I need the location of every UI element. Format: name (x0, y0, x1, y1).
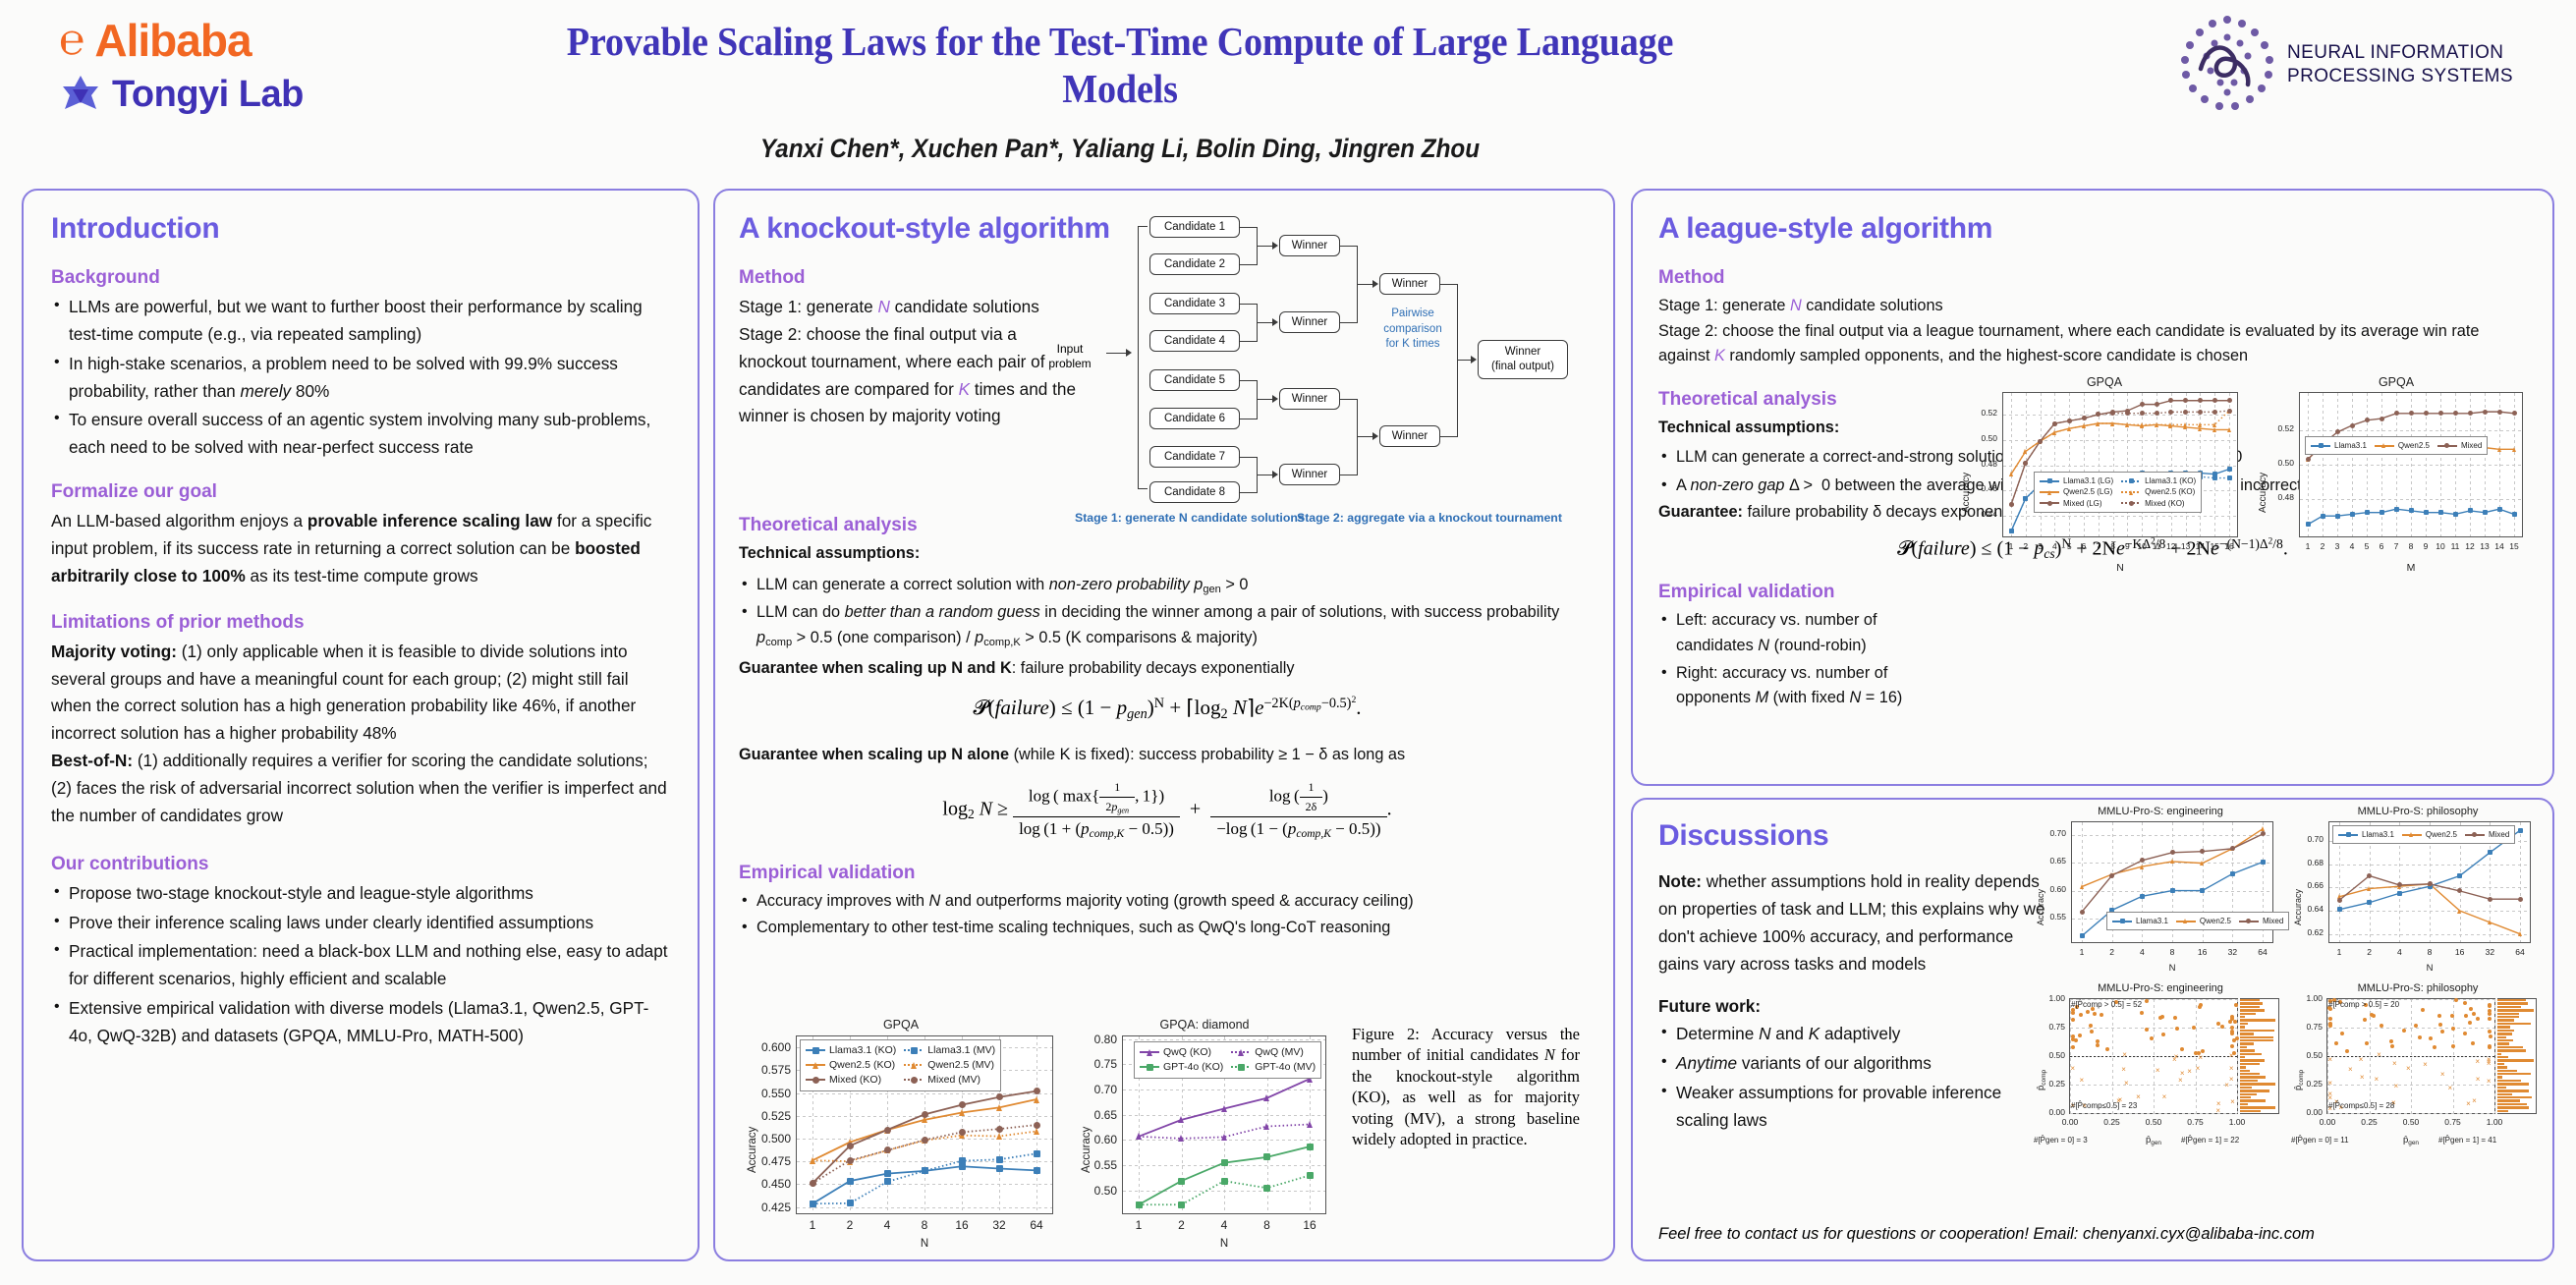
x-tick-label: 1 (810, 1218, 816, 1232)
legend-label: Llama3.1 (LG) (2063, 475, 2113, 486)
data-point (2125, 422, 2129, 427)
scatter-point: × (2423, 1061, 2428, 1069)
data-point (2350, 512, 2355, 517)
x-tick-label: 8 (2170, 947, 2175, 957)
data-point (911, 1062, 917, 1069)
goal-text: An LLM-based algorithm enjoys a provable… (51, 508, 670, 590)
y-tick-label: 0.55 (2049, 912, 2066, 922)
y-tick-label: 0.50 (1981, 433, 1997, 443)
scatter-point (2476, 1017, 2480, 1021)
list-item: Weaker assumptions for provable inferenc… (1658, 1080, 2051, 1135)
data-point (2365, 418, 2370, 422)
scatter-point: × (2162, 1093, 2167, 1101)
chart-legend: Llama3.1 (KO)Llama3.1 (MV)Qwen2.5 (KO)Qw… (800, 1039, 1001, 1091)
data-point (2227, 398, 2232, 403)
scatter-point (2160, 1015, 2164, 1019)
histogram-bar (2497, 1036, 2506, 1038)
data-point (2453, 411, 2458, 416)
data-point (847, 1143, 854, 1149)
data-point (2367, 900, 2372, 905)
y-tick-label: 0.475 (761, 1154, 791, 1168)
x-tick-label: 64 (2258, 947, 2267, 957)
y-tick-label: 0.25 (2048, 1079, 2065, 1089)
legend-item: Mixed (2437, 440, 2482, 451)
chart-legend: Llama3.1Qwen2.5Mixed (2332, 825, 2515, 844)
histogram-bar (2240, 1066, 2246, 1068)
data-point (2261, 860, 2266, 865)
data-point (1147, 1064, 1153, 1071)
gridline (2237, 999, 2238, 1113)
legend-item: Mixed (2239, 916, 2283, 926)
alibaba-logo: ℮ Alibaba (59, 14, 304, 67)
scatter-point (2414, 1024, 2418, 1028)
scatter-point (2145, 1028, 2149, 1032)
histogram-bar (2497, 1059, 2534, 1061)
histogram-bar (2497, 1016, 2519, 1018)
assumptions-heading: Technical assumptions: (739, 541, 1596, 567)
data-point (2468, 411, 2473, 416)
legend-label: GPT-4o (KO) (1163, 1060, 1223, 1075)
scatter-point (2096, 1039, 2100, 1043)
data-point (2365, 510, 2370, 515)
legend-item: Mixed (KO) (2121, 498, 2196, 509)
data-point (1263, 1153, 1270, 1160)
histogram-bar (2240, 1036, 2273, 1038)
histogram-bar (2240, 1073, 2260, 1075)
neurips-wordmark: NEURAL INFORMATION PROCESSING SYSTEMS (2287, 41, 2513, 89)
data-point (2409, 508, 2414, 513)
data-point (2110, 421, 2114, 426)
legend-label: Mixed (2263, 916, 2283, 926)
histogram-bar (2240, 1096, 2251, 1098)
data-point (2518, 897, 2523, 902)
x-tick-label: 0.00 (2320, 1117, 2336, 1127)
x-tick-label: 16 (955, 1218, 968, 1232)
guarantee-nk: Guarantee when scaling up N and K: failu… (739, 656, 1596, 682)
data-point (2052, 421, 2057, 426)
chart-title: MMLU-Pro-S: philosophy (2291, 806, 2545, 817)
gridline (2070, 1028, 2237, 1029)
chart-title: MMLU-Pro-S: engineering (2034, 982, 2287, 994)
candidate-box: Candidate 7 (1149, 446, 1240, 468)
x-tick-label: 32 (992, 1218, 1005, 1232)
x-tick-label: 16 (2455, 947, 2464, 957)
data-point (2082, 423, 2086, 428)
y-tick-label: 0.48 (1981, 459, 1997, 469)
data-point (1263, 1094, 1269, 1101)
candidate-box: Candidate 4 (1149, 330, 1240, 352)
data-point (2497, 410, 2502, 415)
chart-xlabel: N (2328, 963, 2531, 974)
threshold-line (2327, 1056, 2494, 1057)
data-point (1221, 1134, 1227, 1141)
data-point (2424, 510, 2429, 515)
data-point (1034, 1150, 1040, 1157)
scatter-point: × (2215, 1107, 2220, 1115)
threshold-line (2070, 1056, 2237, 1057)
chart-ylabel: Accuracy (1961, 473, 1972, 513)
data-point (1307, 1172, 1314, 1179)
x-tick-label: 2 (847, 1218, 854, 1232)
scatter-point (2489, 1034, 2492, 1038)
histogram-bar (2240, 1076, 2266, 1078)
data-point (2170, 888, 2175, 893)
scatter-point: × (2178, 1077, 2183, 1085)
data-point (2155, 402, 2159, 407)
chart-title: GPQA (2254, 375, 2539, 389)
legend-item: Qwen2.5 (2402, 829, 2457, 840)
x-tick-label: 1.00 (2487, 1117, 2503, 1127)
histogram-bar (2240, 1063, 2260, 1065)
scatter-point: × (2327, 1056, 2332, 1064)
data-point (884, 1178, 891, 1185)
x-tick-label: 7 (2096, 541, 2100, 551)
x-tick-label: 2 (2109, 947, 2114, 957)
gridline (2327, 1085, 2494, 1086)
data-point (2457, 873, 2462, 878)
scatter-point (2096, 1043, 2100, 1047)
scatter-point: × (2229, 1076, 2234, 1084)
histogram-bar (2497, 1110, 2508, 1112)
data-point (2409, 411, 2414, 416)
histogram-bar (2497, 1096, 2532, 1098)
histogram-bar (2497, 1009, 2534, 1011)
x-tick-label: 13 (2480, 541, 2489, 551)
scatter-point (2161, 1033, 2165, 1036)
knockout-theory-heading: Theoretical analysis (739, 515, 1596, 536)
chart-legend: Llama3.1 (LG)Llama3.1 (KO)Qwen2.5 (LG)Qw… (2034, 472, 2202, 513)
introduction-title: Introduction (51, 212, 670, 246)
legend-item: Llama3.1 (2112, 916, 2168, 926)
data-point (1263, 1123, 1269, 1130)
majority-voting-text: Majority voting: (1) only applicable whe… (51, 639, 670, 748)
knockout-assumptions: LLM can generate a correct solution with… (739, 573, 1596, 652)
data-point (2518, 828, 2523, 833)
scatter-point (2345, 1049, 2349, 1053)
histogram-bar (2240, 1009, 2265, 1011)
legend-label: Qwen2.5 (2426, 829, 2457, 840)
legend-item: Qwen2.5 (KO) (806, 1058, 896, 1073)
histogram-bar (2497, 1046, 2523, 1048)
winner-box: Winner (1279, 464, 1340, 485)
legend-label: Qwen2.5 (2398, 440, 2430, 451)
x-tick-label: 16 (2224, 541, 2233, 551)
legend-label: Llama3.1 (2334, 440, 2367, 451)
data-point (2155, 422, 2158, 427)
winner-box: Winner (1279, 311, 1340, 333)
x-tick-label: 12 (2166, 541, 2175, 551)
chart-gpqa-diamond: GPQA: diamond Accuracy 0.500.550.600.650… (1073, 1016, 1336, 1252)
x-tick-label: 4 (2397, 947, 2402, 957)
x-tick-label: 10 (2137, 541, 2146, 551)
legend-label: Mixed (2489, 829, 2509, 840)
data-point (2080, 933, 2085, 938)
y-tick-label: 0.50 (2277, 458, 2294, 468)
scatter-point (2078, 1034, 2082, 1037)
scatter-point (2402, 1029, 2406, 1033)
histogram-bar (2240, 1053, 2262, 1055)
data-point (2453, 512, 2458, 517)
y-tick-label: 0.50 (2048, 1050, 2065, 1060)
legend-item: Mixed (MV) (904, 1073, 995, 1088)
scatter-point (2451, 1027, 2455, 1031)
scatter-point: × (2174, 1053, 2179, 1061)
histogram-bar (2240, 1023, 2248, 1025)
scatter-point (2463, 1032, 2467, 1035)
scatter-point (2086, 1010, 2090, 1014)
chart-xlabel: N (796, 1238, 1053, 1250)
tongyi-wordmark: Tongyi Lab (112, 74, 304, 116)
scatter-point: × (2327, 1080, 2332, 1088)
histogram-bar (2497, 1002, 2528, 1004)
data-point (1136, 1133, 1142, 1140)
legend-label: Qwen2.5 (MV) (927, 1058, 994, 1073)
histogram-bar (2240, 1110, 2261, 1112)
gridline (2070, 1085, 2237, 1086)
histogram-bar (2240, 1093, 2257, 1095)
histogram-bar (2497, 1026, 2510, 1028)
scatter-point: × (2487, 1060, 2492, 1068)
scatter-point (2440, 1030, 2444, 1034)
scatter-point (2488, 1003, 2492, 1007)
x-tick-label: 2 (2367, 947, 2372, 957)
data-point (2483, 510, 2488, 515)
data-point (2212, 422, 2216, 427)
panel-knockout: A knockout-style algorithm Method Stage … (713, 189, 1615, 1261)
x-tick-label: 0.50 (2403, 1117, 2420, 1127)
scatter-point (2079, 1013, 2083, 1017)
data-point (2080, 910, 2085, 915)
x-tick-label: 13 (2181, 541, 2190, 551)
chart-ylabel: p̂comp (2293, 1070, 2305, 1090)
scatter-point: × (2124, 1080, 2129, 1088)
contributions-bullets: Propose two-stage knockout-style and lea… (51, 880, 670, 1050)
knockout-theory: Theoretical analysis Technical assumptio… (739, 515, 1596, 943)
best-of-n-text: Best-of-N: (1) additionally requires a v… (51, 748, 670, 830)
list-item: Prove their inference scaling laws under… (51, 910, 670, 937)
scatter-point: × (2187, 1068, 2192, 1076)
histogram-bar (2497, 1033, 2512, 1034)
x-tick-label: 16 (2198, 947, 2207, 957)
data-point (922, 1137, 928, 1144)
chart-title: GPQA (1957, 375, 2252, 389)
data-point (2047, 501, 2052, 506)
data-point (2381, 443, 2385, 448)
list-item: LLM can generate a correct solution with… (739, 573, 1596, 599)
data-point (1178, 1116, 1184, 1123)
legend-label: Mixed (MV) (927, 1073, 980, 1088)
x-tick-label: 9 (2424, 541, 2429, 551)
data-point (2321, 514, 2325, 519)
legend-item: Llama3.1 (2311, 440, 2367, 451)
gridline (2070, 1113, 2237, 1114)
x-tick-label: 9 (2125, 541, 2130, 551)
alibaba-mark-icon: ℮ (59, 19, 84, 62)
chart-xlabel: N (2071, 963, 2273, 974)
data-point (959, 1101, 966, 1108)
legend-item: Llama3.1 (MV) (904, 1043, 995, 1058)
data-point (810, 1201, 816, 1207)
histogram-bar (2497, 1099, 2520, 1101)
formula-knockout-2: log2 N ≥ log ( max{12pgen, 1}) log (1 + … (739, 780, 1596, 841)
panel-league: A league-style algorithm Method Stage 1:… (1631, 189, 2554, 786)
data-point (2394, 507, 2399, 512)
scatter-point (2173, 1016, 2177, 1020)
list-item: LLM can do better than a random guess in… (739, 600, 1596, 651)
tongyi-logo: Tongyi Lab (59, 73, 304, 116)
scatter-point: × (2180, 1070, 2185, 1078)
histogram-bar (2497, 1023, 2531, 1025)
final-winner-box: Winner (final output) (1478, 340, 1568, 379)
annotation-top: #[P̂comp > 0.5] = 20 (2328, 1000, 2399, 1009)
histogram-bar (2497, 1030, 2514, 1032)
data-point (2067, 426, 2071, 431)
histogram-bar (2240, 1099, 2266, 1101)
y-tick-label: 0.70 (1094, 1083, 1117, 1096)
chart-lines (2003, 393, 2237, 536)
data-point (2512, 512, 2517, 517)
x-tick-label: 4 (2052, 541, 2057, 551)
chart-xlabel: p̂gen (2069, 1135, 2238, 1146)
x-tick-label: 0.25 (2103, 1117, 2120, 1127)
candidate-box: Candidate 1 (1149, 216, 1240, 238)
list-item: Determine N and K adaptively (1658, 1021, 2051, 1048)
list-item: Propose two-stage knockout-style and lea… (51, 880, 670, 908)
y-tick-label: 0.52 (1981, 408, 1997, 418)
y-tick-label: 0.65 (2049, 856, 2066, 866)
histogram-bar (2240, 1013, 2256, 1015)
histogram-bar (2497, 1049, 2526, 1051)
scatter-point: × (2475, 1058, 2480, 1066)
data-point (884, 1127, 891, 1134)
list-item: Extensive empirical validation with dive… (51, 995, 670, 1050)
page-title: Provable Scaling Laws for the Test-Time … (517, 18, 1723, 112)
histogram-bar (2497, 1073, 2531, 1075)
gridline (2494, 999, 2495, 1113)
legend-item: Mixed (KO) (806, 1073, 896, 1088)
histogram-bar (2497, 1087, 2506, 1089)
chart-mmlu-philosophy: MMLU-Pro-S: philosophy Accuracy 0.620.64… (2291, 806, 2545, 978)
scatter-point (2451, 1044, 2455, 1048)
data-point (2140, 402, 2145, 407)
y-tick-label: 0.65 (1094, 1108, 1117, 1122)
y-tick-label: 0.62 (2307, 927, 2324, 937)
data-point (1221, 1178, 1228, 1185)
data-point (2227, 467, 2232, 472)
data-point (847, 1200, 854, 1206)
data-point (911, 1047, 918, 1054)
panel-discussions: Discussions Note: whether assumptions ho… (1631, 798, 2554, 1261)
data-point (2424, 411, 2429, 416)
scatter-point (2463, 1001, 2467, 1005)
legend-label: Mixed (KO) (2145, 498, 2184, 509)
histogram-bar (2240, 1006, 2260, 1008)
chart-title: MMLU-Pro-S: philosophy (2291, 982, 2545, 994)
data-point (959, 1157, 966, 1164)
scatter-point: × (2476, 1076, 2481, 1084)
x-tick-label: 11 (2153, 541, 2161, 551)
legend-label: Llama3.1 (2362, 829, 2394, 840)
x-tick-label: 5 (2067, 541, 2072, 551)
chart-title: MMLU-Pro-S: engineering (2034, 806, 2287, 817)
x-tick-label: 0.25 (2361, 1117, 2378, 1127)
data-point (2140, 422, 2144, 427)
y-tick-label: 0.00 (2048, 1107, 2065, 1117)
chart-legend: QwQ (KO)QwQ (MV)GPT-4o (KO)GPT-4o (MV) (1134, 1041, 1321, 1079)
gridline (2327, 1028, 2494, 1029)
scatter-point (2438, 1023, 2442, 1027)
x-tick-label: 0.75 (2444, 1117, 2461, 1127)
y-tick-label: 0.75 (2048, 1022, 2065, 1032)
future-work-bullets: Determine N and K adaptively Anytime var… (1658, 1021, 2051, 1134)
legend-label: Llama3.1 (KO) (2145, 475, 2196, 486)
data-point (2230, 871, 2235, 876)
legend-label: Llama3.1 (MV) (927, 1043, 995, 1058)
scatter-point: × (2448, 1085, 2453, 1092)
poster-header: ℮ Alibaba Tongyi Lab Provable Scaling La… (0, 0, 2576, 185)
legend-label: Mixed (KO) (829, 1073, 881, 1088)
x-tick-label: 4 (1221, 1218, 1228, 1232)
histogram-bar (2240, 999, 2260, 1001)
data-point (1307, 1121, 1313, 1128)
y-tick-label: 0.70 (2307, 834, 2324, 844)
data-point (2380, 510, 2384, 515)
data-point (847, 1157, 854, 1164)
chart-title: GPQA (739, 1018, 1063, 1032)
data-point (2438, 510, 2443, 515)
histogram-bar (2240, 1087, 2252, 1089)
data-point (2140, 411, 2145, 416)
x-tick-label: 64 (2515, 947, 2524, 957)
chart-xlabel: N (1122, 1238, 1326, 1250)
y-tick-label: 0.44 (1981, 509, 1997, 519)
y-tick-label: 0.600 (761, 1040, 791, 1054)
scatter-point (2328, 1017, 2332, 1021)
histogram-bar (2497, 1053, 2501, 1055)
chart-legend: Llama3.1Qwen2.5Mixed (2305, 436, 2488, 455)
x-tick-label: 32 (2228, 947, 2237, 957)
scatter-point: × (2466, 1100, 2471, 1108)
y-tick-label: 0.550 (761, 1087, 791, 1100)
data-point (2047, 490, 2051, 495)
histogram-bar (2497, 1106, 2529, 1108)
data-point (2067, 419, 2072, 423)
scatter-point (2074, 1038, 2078, 1042)
data-point (959, 1129, 966, 1136)
y-tick-label: 0.25 (2306, 1079, 2323, 1089)
legend-item: Mixed (2465, 829, 2509, 840)
chart-ylabel: Accuracy (2258, 473, 2268, 513)
data-point (2497, 507, 2502, 512)
data-point (2367, 886, 2371, 891)
data-point (810, 1157, 815, 1164)
data-point (2170, 850, 2175, 855)
legend-label: Qwen2.5 (KO) (829, 1058, 895, 1073)
x-tick-label: 7 (2394, 541, 2399, 551)
histogram-bar (2497, 1103, 2527, 1105)
histogram-bar (2240, 1033, 2254, 1034)
legend-label: GPT-4o (MV) (1255, 1060, 1316, 1075)
histogram-bar (2497, 1006, 2521, 1008)
x-tick-label: 0.00 (2062, 1117, 2079, 1127)
histogram-bar (2497, 1083, 2529, 1085)
data-point (2023, 496, 2028, 501)
data-point (2009, 502, 2014, 507)
histogram-bar (2497, 1042, 2509, 1044)
scatter-point (2230, 1044, 2234, 1048)
list-item: Right: accuracy vs. number of opponents … (1658, 661, 1953, 711)
scatter-point (2180, 1047, 2184, 1051)
